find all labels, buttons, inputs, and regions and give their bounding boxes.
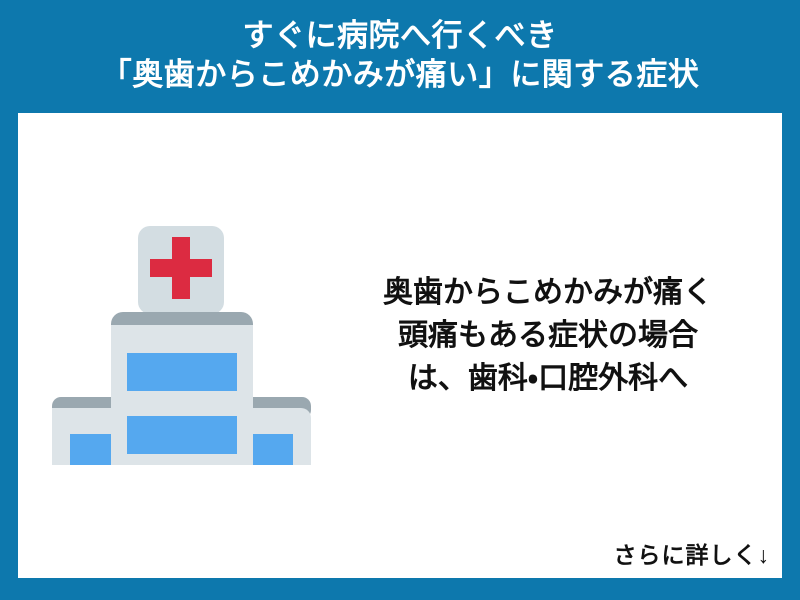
content-card: 奥歯からこめかみが痛く 頭痛もある症状の場合 は、歯科・口腔外科へ さらに詳しく… xyxy=(18,113,782,578)
hospital-icon-svg xyxy=(34,190,314,465)
body-line-1: 奥歯からこめかみが痛く xyxy=(348,271,748,314)
banner-root: すぐに病院へ行くべき 「奥歯からこめかみが痛い」に関する症状 xyxy=(0,0,800,600)
window-center-1 xyxy=(127,353,237,391)
title-line-1: すぐに病院へ行くべき xyxy=(0,16,800,55)
body-line-2: 頭痛もある症状の場合 xyxy=(348,314,748,357)
more-details-link[interactable]: さらに詳しく↓ xyxy=(614,540,771,570)
window-center-2 xyxy=(127,416,237,454)
body-text: 奥歯からこめかみが痛く 頭痛もある症状の場合 は、歯科・口腔外科へ xyxy=(348,271,748,400)
title-line-2: 「奥歯からこめかみが痛い」に関する症状 xyxy=(0,55,800,94)
hospital-building-icon xyxy=(34,190,314,465)
page-title: すぐに病院へ行くべき 「奥歯からこめかみが痛い」に関する症状 xyxy=(0,16,800,94)
body-line-3: は、歯科・口腔外科へ xyxy=(348,357,748,400)
